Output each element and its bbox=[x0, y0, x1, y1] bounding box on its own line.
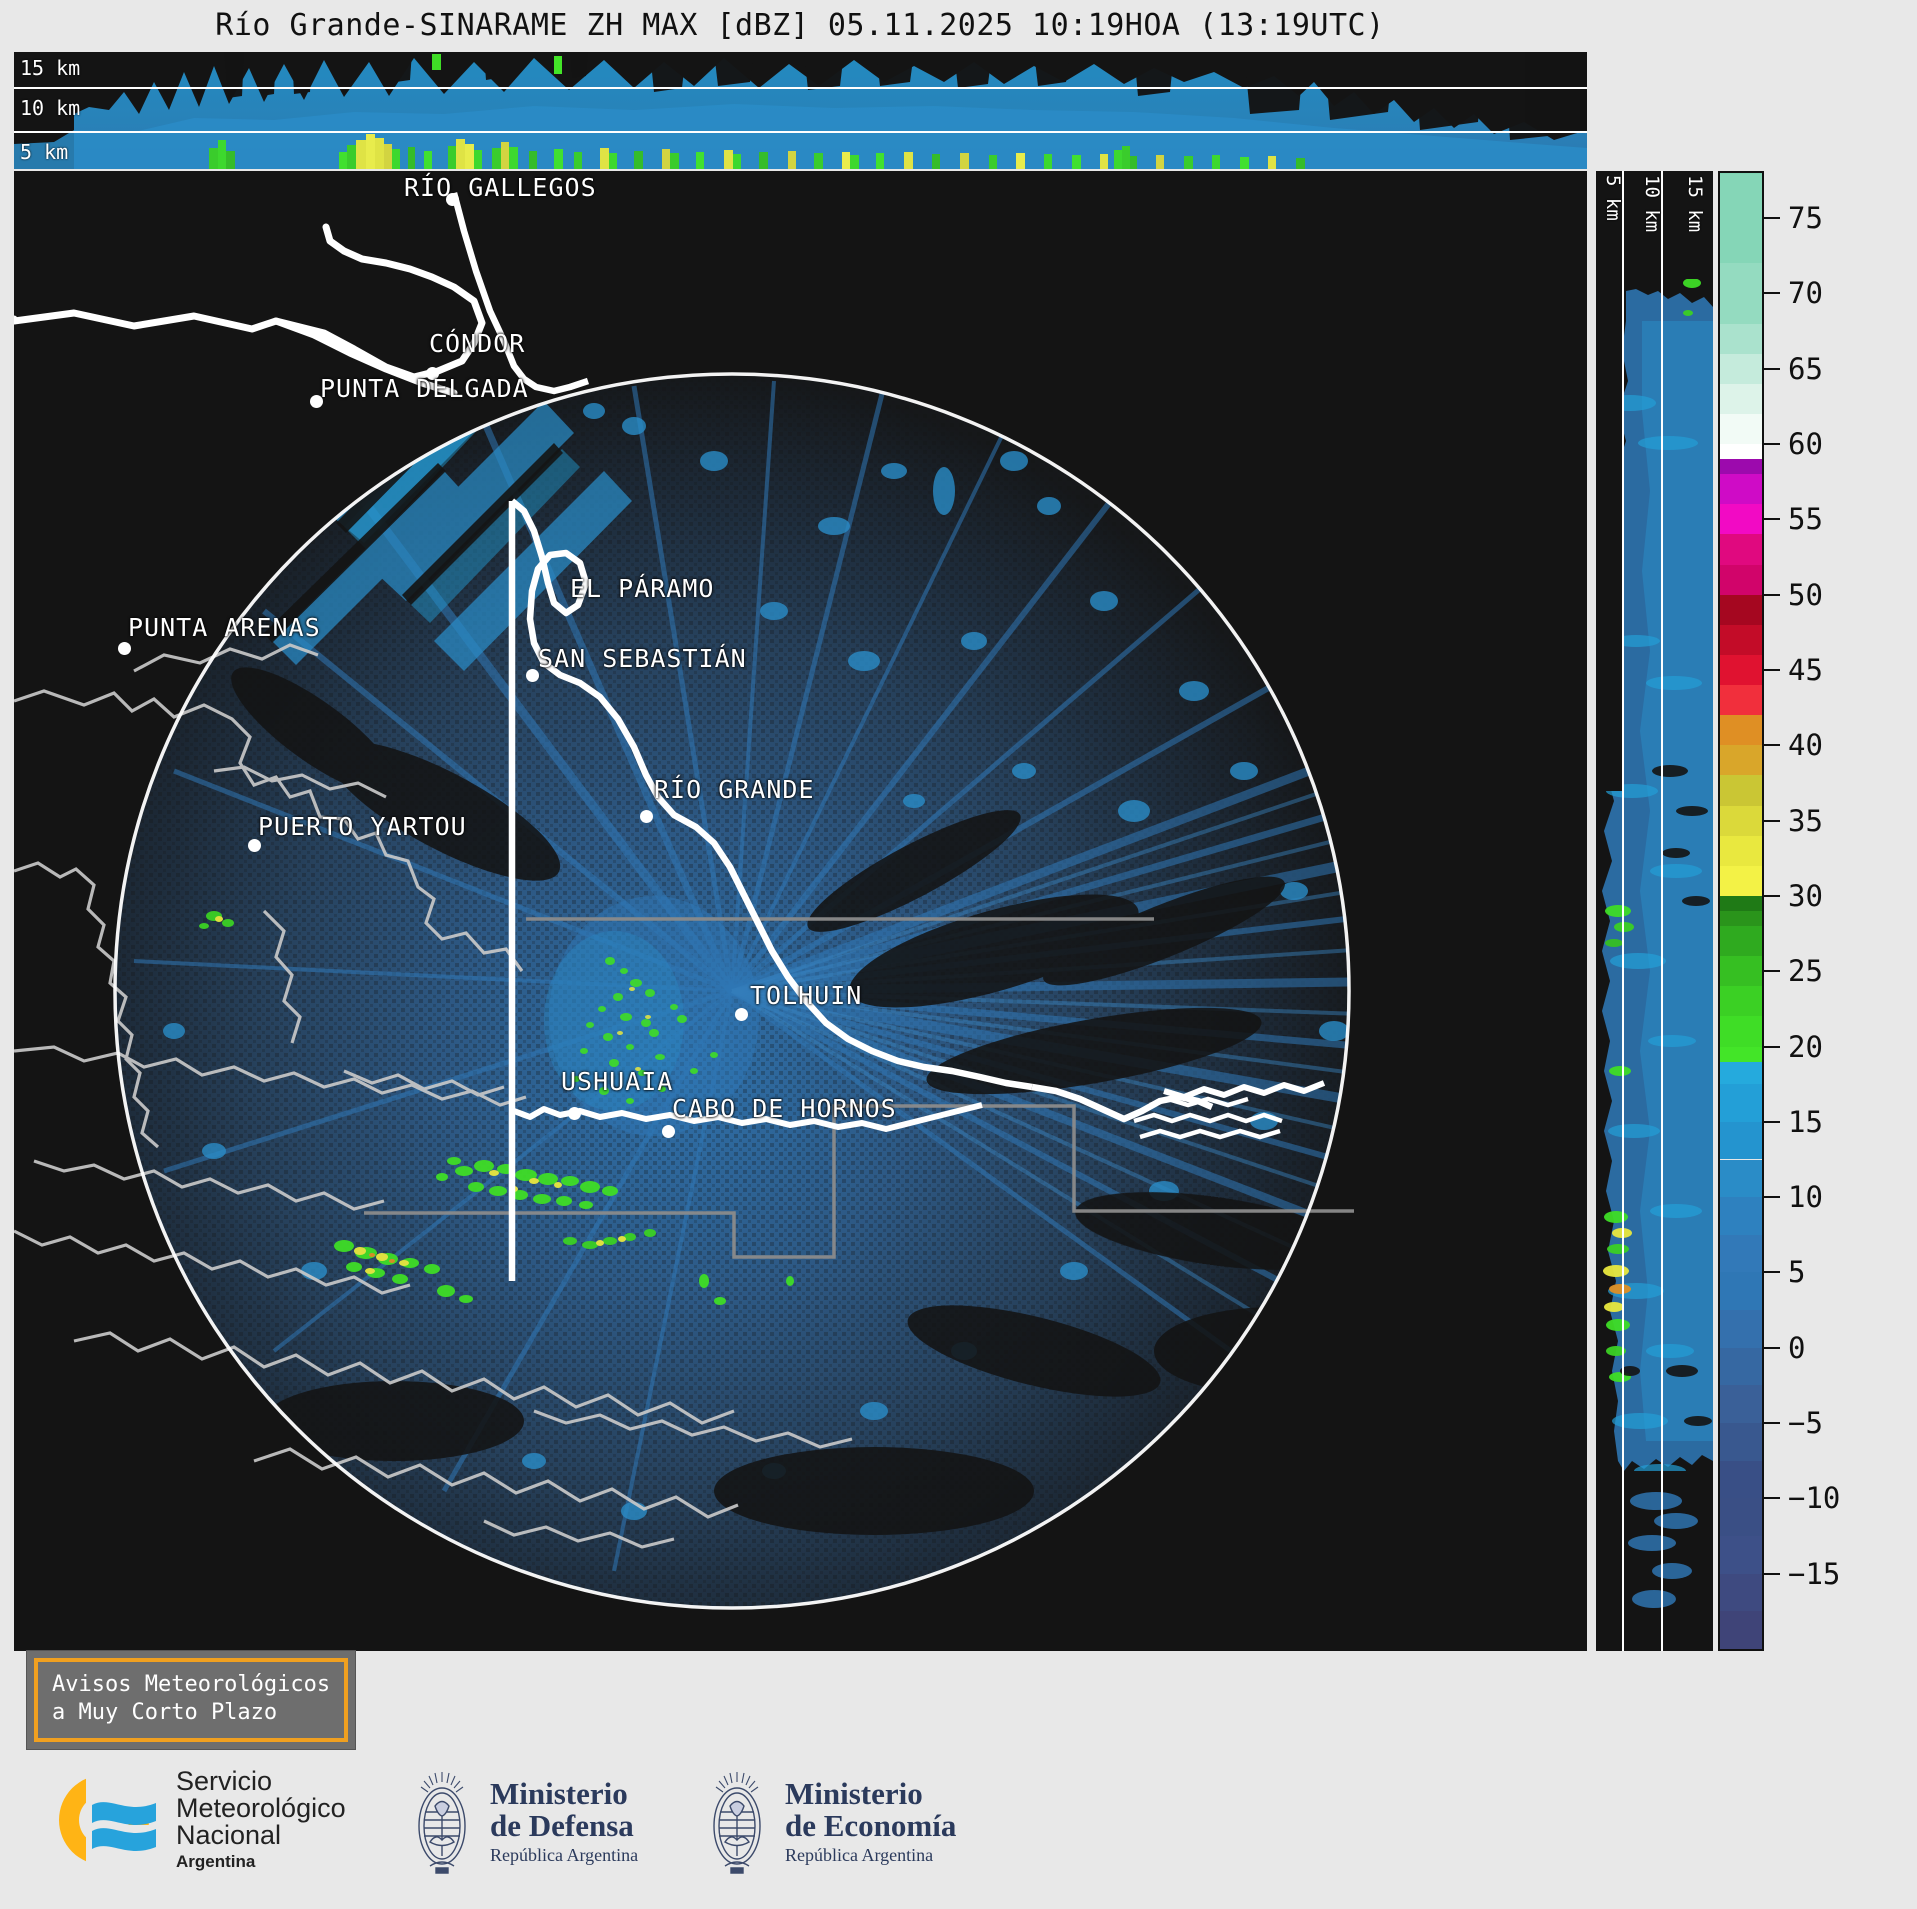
status-badge[interactable]: Avisos Meteorológicos a Muy Corto Plazo bbox=[26, 1650, 356, 1750]
colorbar-tick-label: 15 bbox=[1788, 1105, 1823, 1139]
colorbar-segment bbox=[1720, 836, 1762, 866]
defensa-line-2: de Defensa bbox=[490, 1810, 638, 1842]
colorbar-segment bbox=[1720, 474, 1762, 504]
colorbar-segment bbox=[1720, 595, 1762, 625]
city-dot-puerto-yartou bbox=[248, 839, 261, 852]
colorbar-tick bbox=[1764, 1121, 1780, 1123]
colorbar-tick-label: 65 bbox=[1788, 352, 1823, 386]
height-label-5km: 5 km bbox=[20, 140, 68, 164]
smn-line-4: Argentina bbox=[176, 1852, 346, 1872]
colorbar-segment bbox=[1720, 775, 1762, 805]
colorbar-tick bbox=[1764, 744, 1780, 746]
colorbar-tick-label: 75 bbox=[1788, 201, 1823, 235]
smn-line-2: Meteorológico bbox=[176, 1795, 346, 1822]
colorbar-segment bbox=[1720, 866, 1762, 896]
colorbar-tick bbox=[1764, 518, 1780, 520]
city-dot-rio-grande bbox=[640, 810, 653, 823]
colorbar-tick bbox=[1764, 1046, 1780, 1048]
colorbar-tick-label: 55 bbox=[1788, 502, 1823, 536]
colorbar-segment bbox=[1720, 685, 1762, 715]
colorbar-tick-label: 10 bbox=[1788, 1180, 1823, 1214]
colorbar-tick bbox=[1764, 970, 1780, 972]
colorbar-tick-label: 35 bbox=[1788, 804, 1823, 838]
colorbar-tick bbox=[1764, 1196, 1780, 1198]
gridline-10km-vertical bbox=[1661, 171, 1663, 1651]
height-label-15km: 15 km bbox=[20, 56, 80, 80]
colorbar-tick bbox=[1764, 1573, 1780, 1575]
city-dot-cabo-de-hornos bbox=[662, 1125, 675, 1138]
status-badge-inner: Avisos Meteorológicos a Muy Corto Plazo bbox=[34, 1658, 348, 1742]
colorbar-segment bbox=[1720, 504, 1762, 534]
colorbar-tick bbox=[1764, 292, 1780, 294]
economia-line-1: Ministerio bbox=[785, 1778, 956, 1810]
right-cross-section-echo bbox=[1596, 171, 1713, 1651]
height-label-5km-vertical: 5 km bbox=[1602, 175, 1624, 221]
colorbar-segment bbox=[1720, 1385, 1762, 1423]
gridline-5km-vertical bbox=[1622, 171, 1624, 1651]
colorbar-segment bbox=[1720, 1122, 1762, 1160]
ministerio-defensa-logo: Ministerio de Defensa República Argentin… bbox=[408, 1770, 638, 1874]
colorbar-segment bbox=[1720, 911, 1762, 926]
radar-reflectivity-layer bbox=[14, 171, 1587, 1651]
colorbar-tick bbox=[1764, 820, 1780, 822]
colorbar-segment bbox=[1720, 655, 1762, 685]
colorbar-segment bbox=[1720, 956, 1762, 986]
smn-line-3: Nacional bbox=[176, 1822, 346, 1849]
colorbar-segment bbox=[1720, 354, 1762, 384]
colorbar-tick-label: −5 bbox=[1788, 1406, 1823, 1440]
colorbar-tick bbox=[1764, 1422, 1780, 1424]
smn-line-1: Servicio bbox=[176, 1768, 346, 1795]
city-dot-tolhuin bbox=[735, 1008, 748, 1021]
colorbar-segment bbox=[1720, 534, 1762, 564]
smn-mark-icon bbox=[52, 1769, 162, 1871]
badge-line-2: a Muy Corto Plazo bbox=[52, 1699, 330, 1727]
colorbar-segment bbox=[1720, 625, 1762, 655]
badge-line-1: Avisos Meteorológicos bbox=[52, 1671, 330, 1699]
gridline-15km bbox=[14, 87, 1587, 89]
colorbar-segment bbox=[1720, 1461, 1762, 1499]
colorbar-tick-label: 5 bbox=[1788, 1255, 1805, 1289]
colorbar-segment bbox=[1720, 459, 1762, 474]
colorbar-segment bbox=[1720, 384, 1762, 414]
colorbar-tick-label: 30 bbox=[1788, 879, 1823, 913]
radar-map[interactable]: RÍO GALLEGOS CÓNDOR PUNTA DELGADA EL PÁR… bbox=[14, 171, 1587, 1651]
colorbar-tick-label: 50 bbox=[1788, 578, 1823, 612]
ministerio-economia-logo: Ministerio de Economía República Argenti… bbox=[703, 1770, 956, 1874]
colorbar-segment bbox=[1720, 1016, 1762, 1046]
colorbar-tick bbox=[1764, 1347, 1780, 1349]
colorbar-tick-label: 25 bbox=[1788, 954, 1823, 988]
economia-line-3: República Argentina bbox=[785, 1845, 956, 1866]
colorbar-tick-label: 70 bbox=[1788, 276, 1823, 310]
height-label-15km-vertical: 15 km bbox=[1684, 175, 1706, 232]
argentina-coat-of-arms-icon bbox=[408, 1770, 476, 1874]
colorbar-segment bbox=[1720, 986, 1762, 1016]
colorbar-segment bbox=[1720, 1084, 1762, 1122]
colorbar-tick bbox=[1764, 895, 1780, 897]
colorbar-segment bbox=[1720, 1423, 1762, 1461]
colorbar-tick bbox=[1764, 669, 1780, 671]
colorbar-segment bbox=[1720, 324, 1762, 354]
page-title: Río Grande-SINARAME ZH MAX [dBZ] 05.11.2… bbox=[0, 8, 1600, 43]
city-dot-ushuaia bbox=[568, 1107, 581, 1120]
colorbar-segment bbox=[1720, 806, 1762, 836]
height-label-10km: 10 km bbox=[20, 96, 80, 120]
colorbar-segment bbox=[1720, 896, 1762, 911]
city-dot-san-sebastian bbox=[526, 669, 539, 682]
colorbar-tick bbox=[1764, 217, 1780, 219]
colorbar-segment bbox=[1720, 263, 1762, 323]
city-dot-rio-gallegos bbox=[446, 193, 459, 206]
defensa-line-1: Ministerio bbox=[490, 1778, 638, 1810]
colorbar-gradient bbox=[1718, 171, 1764, 1651]
colorbar-tick-axis: 757065605550454035302520151050−5−10−15 bbox=[1764, 171, 1904, 1651]
colorbar-tick-label: 60 bbox=[1788, 427, 1823, 461]
colorbar-segment bbox=[1720, 173, 1762, 174]
economia-line-2: de Economía bbox=[785, 1810, 956, 1842]
colorbar-segment bbox=[1720, 173, 1762, 263]
colorbar-segment bbox=[1720, 926, 1762, 956]
colorbar-segment bbox=[1720, 1235, 1762, 1273]
colorbar-tick bbox=[1764, 443, 1780, 445]
footer-logos: Servicio Meteorológico Nacional Argentin… bbox=[0, 1760, 1917, 1909]
colorbar-tick-label: 0 bbox=[1788, 1331, 1805, 1365]
city-dot-punta-delgada bbox=[310, 395, 323, 408]
ministerio-economia-text: Ministerio de Economía República Argenti… bbox=[785, 1778, 956, 1866]
smn-logo-text: Servicio Meteorológico Nacional Argentin… bbox=[176, 1768, 346, 1872]
colorbar-segment bbox=[1720, 1348, 1762, 1386]
gridline-10km bbox=[14, 131, 1587, 133]
radar-product-page: Río Grande-SINARAME ZH MAX [dBZ] 05.11.2… bbox=[0, 0, 1917, 1909]
colorbar-segment bbox=[1720, 1498, 1762, 1536]
colorbar-tick-label: 40 bbox=[1788, 728, 1823, 762]
colorbar-segment bbox=[1720, 1197, 1762, 1235]
colorbar bbox=[1718, 171, 1764, 1651]
colorbar-segment bbox=[1720, 1611, 1762, 1649]
colorbar-tick bbox=[1764, 1497, 1780, 1499]
colorbar-segment bbox=[1720, 565, 1762, 595]
colorbar-segment bbox=[1720, 1310, 1762, 1348]
defensa-line-3: República Argentina bbox=[490, 1845, 638, 1866]
height-label-10km-vertical: 10 km bbox=[1641, 175, 1663, 232]
colorbar-segment bbox=[1720, 1047, 1762, 1062]
colorbar-segment bbox=[1720, 1062, 1762, 1085]
city-dot-punta-arenas bbox=[118, 642, 131, 655]
top-cross-section-panel: 15 km 10 km 5 km bbox=[14, 52, 1587, 169]
argentina-coat-of-arms-icon bbox=[703, 1770, 771, 1874]
colorbar-tick-label: 45 bbox=[1788, 653, 1823, 687]
colorbar-segment bbox=[1720, 1536, 1762, 1574]
colorbar-tick-label: 20 bbox=[1788, 1030, 1823, 1064]
colorbar-segment bbox=[1720, 745, 1762, 775]
colorbar-tick bbox=[1764, 594, 1780, 596]
city-dot-condor bbox=[426, 367, 439, 380]
smn-logo: Servicio Meteorológico Nacional Argentin… bbox=[52, 1768, 346, 1872]
colorbar-tick bbox=[1764, 368, 1780, 370]
colorbar-segment bbox=[1720, 444, 1762, 459]
colorbar-segment bbox=[1720, 715, 1762, 745]
colorbar-segment bbox=[1720, 1574, 1762, 1612]
colorbar-segment bbox=[1720, 414, 1762, 444]
top-cross-section-echo bbox=[14, 52, 1587, 169]
colorbar-tick bbox=[1764, 1271, 1780, 1273]
ministerio-defensa-text: Ministerio de Defensa República Argentin… bbox=[490, 1778, 638, 1866]
right-cross-section-panel: 5 km 10 km 15 km bbox=[1596, 171, 1713, 1651]
colorbar-tick-label: −15 bbox=[1788, 1557, 1840, 1591]
colorbar-tick-label: −10 bbox=[1788, 1481, 1840, 1515]
colorbar-segment bbox=[1720, 1272, 1762, 1310]
colorbar-segment bbox=[1720, 1160, 1762, 1198]
